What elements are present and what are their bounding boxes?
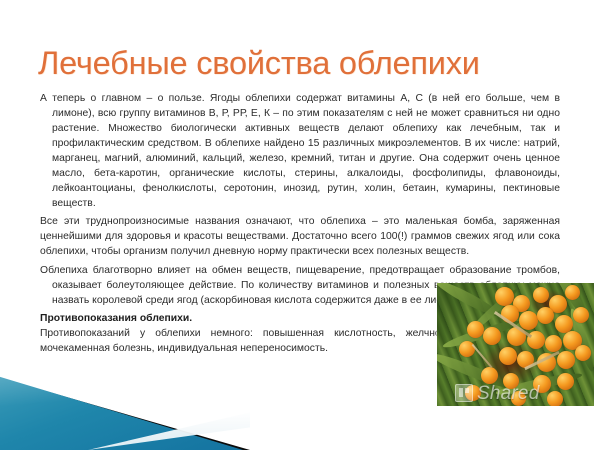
berry xyxy=(519,311,538,330)
berry xyxy=(533,287,549,303)
berry xyxy=(557,351,575,369)
berry xyxy=(533,375,551,393)
berry xyxy=(537,307,554,324)
contraindications-text: Противопоказаний у облепихи немного: пов… xyxy=(40,326,460,356)
berry xyxy=(573,307,589,323)
berry xyxy=(575,345,591,361)
slide-canvas: Лечебные свойства облепихи А теперь о гл… xyxy=(0,0,600,450)
berry xyxy=(467,321,484,338)
teal-corner-wedge xyxy=(0,364,250,450)
berry xyxy=(481,367,498,384)
berry xyxy=(557,373,574,390)
sea-buckthorn-photo xyxy=(437,283,594,406)
wedge-sheen xyxy=(0,364,243,450)
berry xyxy=(495,287,514,306)
paragraph-nutrients-summary: Все эти труднопроизносимые названия озна… xyxy=(40,214,560,259)
berry xyxy=(547,391,563,406)
paragraph-benefits: А теперь о главном – о пользе. Ягоды обл… xyxy=(40,91,560,211)
berry xyxy=(545,335,562,352)
berry xyxy=(483,327,501,345)
berry xyxy=(503,373,519,389)
berry xyxy=(465,385,481,401)
page-title: Лечебные свойства облепихи xyxy=(38,44,578,82)
berry xyxy=(511,391,526,406)
berry xyxy=(499,347,517,365)
berry xyxy=(565,285,580,300)
